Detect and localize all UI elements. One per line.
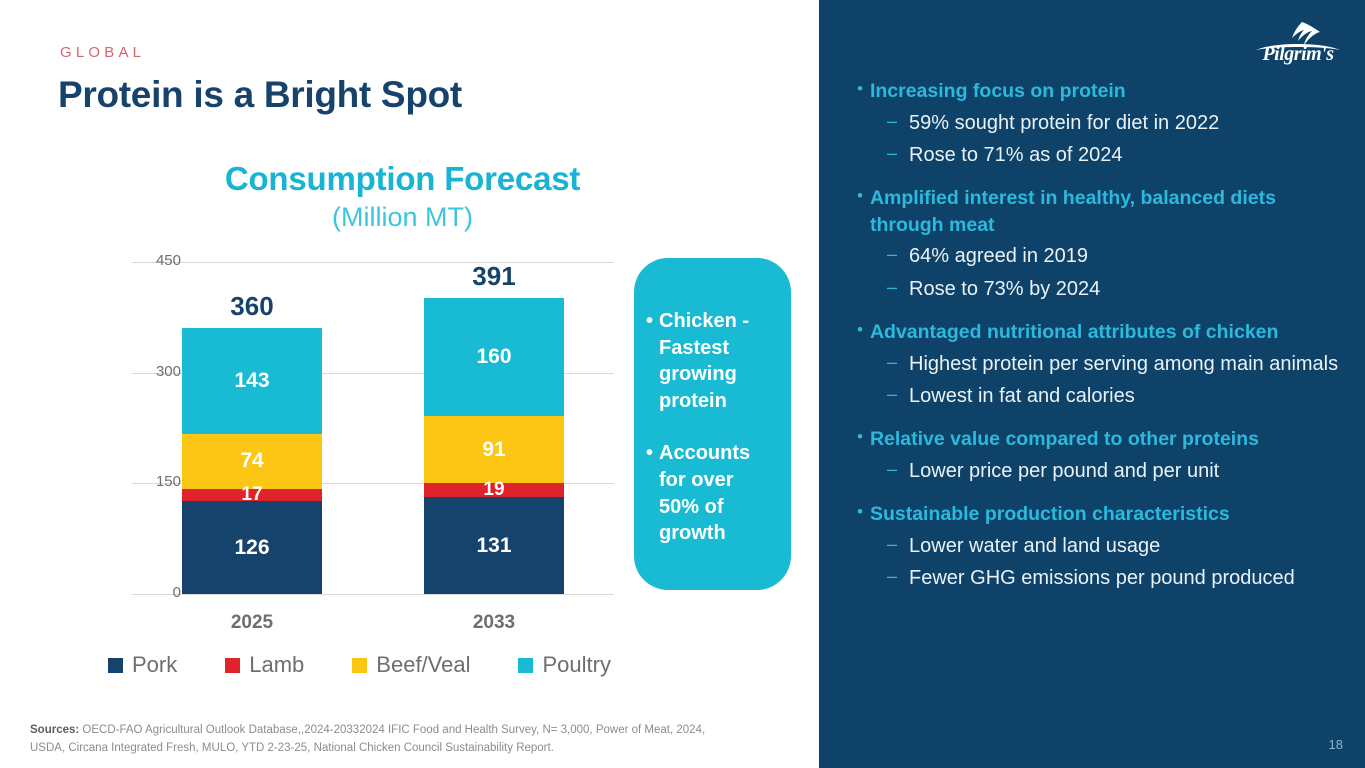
chart-bar-segment: 91 (424, 416, 564, 483)
chart-y-tick-label: 0 (121, 584, 181, 601)
key-point-sub-row: –59% sought protein for diet in 2022 (857, 109, 1357, 137)
chart-bar-segment: 143 (182, 328, 322, 434)
sub-bullet-dash-icon: – (887, 564, 897, 592)
pilgrims-logo: Pilgrim's (1252, 20, 1344, 68)
pilgrims-wordmark: Pilgrim's (1252, 43, 1344, 66)
bullet-dot-icon: • (857, 78, 863, 105)
legend-swatch-icon (518, 658, 533, 673)
bullet-dot-icon: • (857, 501, 863, 528)
bullet-dot-icon: • (857, 319, 863, 346)
key-point-sub-text: Lower price per pound and per unit (909, 457, 1219, 485)
callout-bullet: •Chicken - Fastest growing protein (646, 308, 777, 414)
key-point-heading-row: •Relative value compared to other protei… (857, 426, 1357, 453)
key-point-sub-text: Lower water and land usage (909, 532, 1160, 560)
callout-bullet-text: Accounts for over 50% of growth (659, 440, 777, 546)
key-point-heading-row: •Increasing focus on protein (857, 78, 1357, 105)
key-point-sub-row: –64% agreed in 2019 (857, 242, 1357, 270)
legend-swatch-icon (108, 658, 123, 673)
chart-legend-item[interactable]: Beef/Veal (352, 652, 470, 678)
key-point-heading: Relative value compared to other protein… (870, 426, 1259, 453)
legend-label: Beef/Veal (376, 652, 470, 678)
callout-bullet: •Accounts for over 50% of growth (646, 440, 777, 546)
key-point-sub-row: –Rose to 73% by 2024 (857, 275, 1357, 303)
right-panel: Pilgrim's •Increasing focus on protein–5… (819, 0, 1365, 768)
sources-label: Sources: (30, 724, 79, 736)
key-point-sub-text: 59% sought protein for diet in 2022 (909, 109, 1219, 137)
chart-bar-segment: 19 (424, 483, 564, 497)
chart-gridline (132, 594, 614, 595)
chart-legend-item[interactable]: Poultry (518, 652, 610, 678)
key-point-sub-row: –Highest protein per serving among main … (857, 350, 1357, 378)
sub-bullet-dash-icon: – (887, 350, 897, 378)
key-point-heading: Increasing focus on protein (870, 78, 1126, 105)
chart-bar-total-label: 360 (182, 291, 322, 322)
bullet-dot-icon: • (857, 185, 863, 238)
sources-note: Sources: OECD-FAO Agricultural Outlook D… (30, 722, 720, 758)
chart-bar: 1437417126 (182, 328, 322, 594)
sources-text: OECD-FAO Agricultural Outlook Database,,… (30, 724, 705, 754)
sub-bullet-dash-icon: – (887, 109, 897, 137)
key-points-list: •Increasing focus on protein–59% sought … (857, 78, 1357, 593)
key-point-sub-text: Fewer GHG emissions per pound produced (909, 564, 1295, 592)
sub-bullet-dash-icon: – (887, 457, 897, 485)
legend-label: Lamb (249, 652, 304, 678)
key-point-heading: Sustainable production characteristics (870, 501, 1230, 528)
chart-x-tick-label: 2033 (414, 612, 574, 634)
page-number: 18 (1329, 737, 1343, 752)
eyebrow-label: GLOBAL (60, 44, 145, 61)
slide-root: GLOBAL Protein is a Bright Spot Consumpt… (0, 0, 1365, 768)
legend-swatch-icon (352, 658, 367, 673)
legend-swatch-icon (225, 658, 240, 673)
key-point-heading-row: •Advantaged nutritional attributes of ch… (857, 319, 1357, 346)
chart-subtitle: (Million MT) (0, 202, 805, 233)
callout-bullet-text: Chicken - Fastest growing protein (659, 308, 777, 414)
legend-label: Pork (132, 652, 177, 678)
chart-bar-segment: 126 (182, 501, 322, 594)
chart-legend-item[interactable]: Pork (108, 652, 177, 678)
page-title: Protein is a Bright Spot (58, 74, 462, 116)
sub-bullet-dash-icon: – (887, 382, 897, 410)
chart-bar-segment: 17 (182, 489, 322, 502)
chart-callout-bubble: •Chicken - Fastest growing protein•Accou… (634, 258, 791, 590)
chart-x-tick-label: 2025 (172, 612, 332, 634)
chart-bar-segment: 131 (424, 497, 564, 594)
key-point-heading: Advantaged nutritional attributes of chi… (870, 319, 1278, 346)
key-point-heading-row: •Sustainable production characteristics (857, 501, 1357, 528)
chart-bar: 1609119131 (424, 298, 564, 594)
chart-title: Consumption Forecast (0, 160, 805, 198)
chart-legend-item[interactable]: Lamb (225, 652, 304, 678)
bullet-dot-icon: • (857, 426, 863, 453)
chart-y-tick-label: 150 (121, 473, 181, 490)
key-point-heading-row: •Amplified interest in healthy, balanced… (857, 185, 1357, 238)
sub-bullet-dash-icon: – (887, 242, 897, 270)
bullet-dot-icon: • (646, 440, 653, 546)
chart-legend: PorkLambBeef/VealPoultry (108, 652, 628, 678)
legend-label: Poultry (542, 652, 610, 678)
chart-y-tick-label: 300 (121, 363, 181, 380)
key-point-sub-row: –Lowest in fat and calories (857, 382, 1357, 410)
left-content-area: GLOBAL Protein is a Bright Spot Consumpt… (0, 0, 819, 768)
key-point-sub-row: –Lower water and land usage (857, 532, 1357, 560)
sub-bullet-dash-icon: – (887, 532, 897, 560)
key-point-sub-text: Rose to 73% by 2024 (909, 275, 1100, 303)
key-point-sub-row: – Lower price per pound and per unit (857, 457, 1357, 485)
key-point-heading: Amplified interest in healthy, balanced … (870, 185, 1325, 238)
chart-bar-segment: 160 (424, 298, 564, 416)
key-point-sub-row: –Fewer GHG emissions per pound produced (857, 564, 1357, 592)
key-point-sub-text: Highest protein per serving among main a… (909, 350, 1338, 378)
chart-y-tick-label: 450 (121, 252, 181, 269)
chart-bar-segment: 74 (182, 434, 322, 489)
key-point-sub-row: –Rose to 71% as of 2024 (857, 141, 1357, 169)
key-point-sub-text: 64% agreed in 2019 (909, 242, 1088, 270)
key-point-sub-text: Rose to 71% as of 2024 (909, 141, 1122, 169)
sub-bullet-dash-icon: – (887, 275, 897, 303)
chart-bar-total-label: 391 (424, 261, 564, 292)
sub-bullet-dash-icon: – (887, 141, 897, 169)
key-point-sub-text: Lowest in fat and calories (909, 382, 1135, 410)
bullet-dot-icon: • (646, 308, 653, 414)
